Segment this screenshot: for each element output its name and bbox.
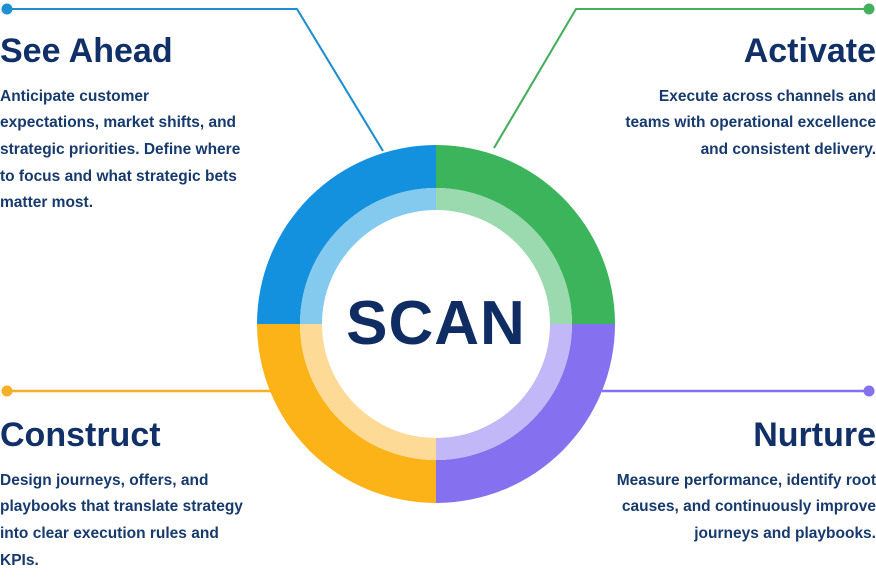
quadrant-see-ahead: See Ahead Anticipate customer expectatio… bbox=[0, 34, 260, 217]
quadrant-body-nurture: Measure performance, identify root cause… bbox=[600, 468, 876, 548]
quadrant-title-see-ahead: See Ahead bbox=[0, 34, 260, 70]
quadrant-body-activate: Execute across channels and teams with o… bbox=[614, 84, 876, 164]
quadrant-activate: Activate Execute across channels and tea… bbox=[614, 34, 876, 164]
donut-center-label: SCAN bbox=[257, 145, 615, 503]
quadrant-body-construct: Design journeys, offers, and playbooks t… bbox=[0, 468, 250, 575]
quadrant-title-construct: Construct bbox=[0, 418, 260, 454]
quadrant-title-activate: Activate bbox=[614, 34, 876, 70]
quadrant-body-see-ahead: Anticipate customer expectations, market… bbox=[0, 84, 250, 217]
quadrant-nurture: Nurture Measure performance, identify ro… bbox=[600, 418, 876, 548]
quadrant-title-nurture: Nurture bbox=[600, 418, 876, 454]
quadrant-construct: Construct Design journeys, offers, and p… bbox=[0, 418, 260, 574]
connector-nurture bbox=[602, 386, 875, 397]
scan-donut-chart: SCAN bbox=[257, 145, 615, 503]
connector-construct bbox=[2, 386, 273, 397]
scan-framework-diagram: SCAN See Ahead Anticipate customer expec… bbox=[0, 0, 876, 584]
